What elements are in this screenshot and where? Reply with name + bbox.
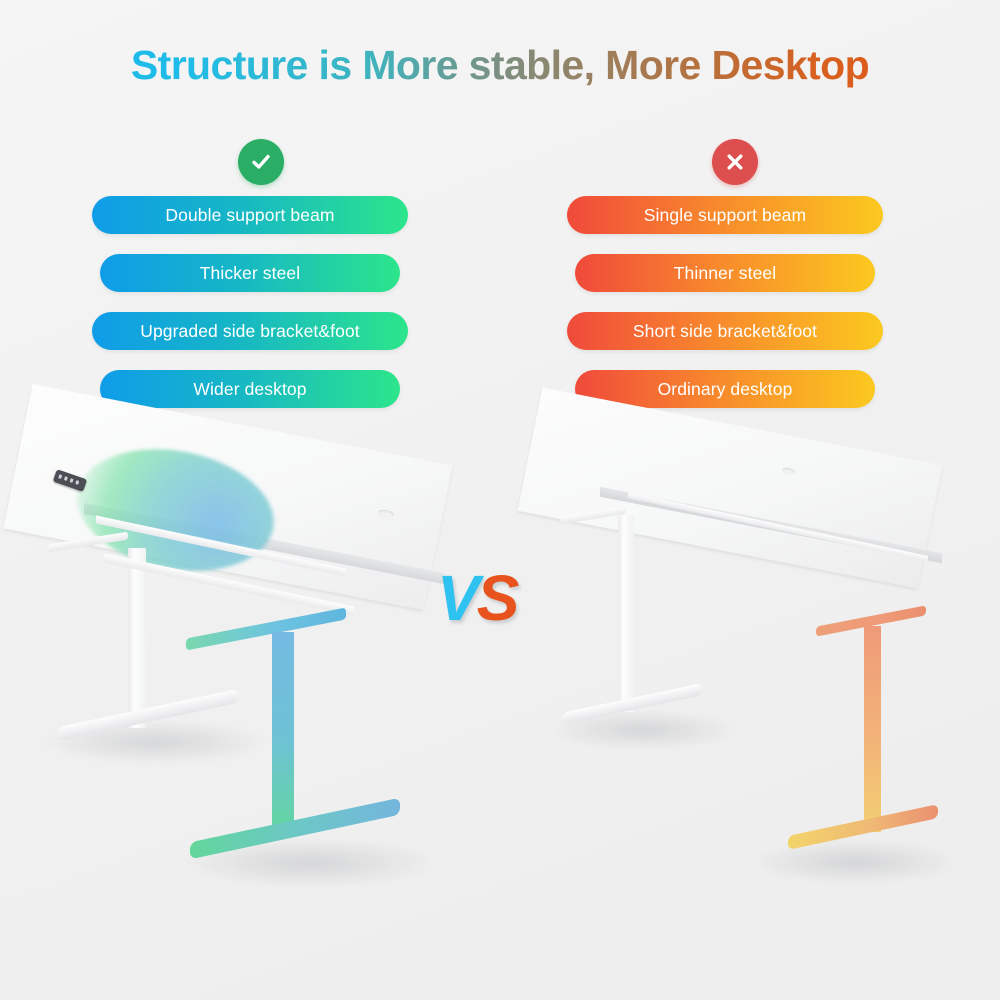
side-bracket-front-accent [186,607,346,650]
feature-pill-bad-3: Short side bracket&foot [567,312,883,350]
feature-pill-bad-2: Thinner steel [575,254,875,292]
desk-leg-rear [618,516,634,712]
desktop-surface [518,388,943,589]
feature-pill-good-2: Thicker steel [100,254,400,292]
cross-circle-icon [712,139,758,185]
desk-leg-front-accent [864,626,881,832]
vs-letter-s: S [477,562,517,634]
product-image-bad [520,420,990,940]
check-circle-icon [238,139,284,185]
feature-list-good: Double support beam Thicker steel Upgrad… [80,196,420,408]
vs-letter-v: V [437,562,477,634]
floor-shadow [750,840,960,884]
desk-leg-front-accent [272,632,294,832]
infographic-canvas: Structure is More stable, More Desktop D… [0,0,1000,1000]
feature-pill-good-4: Wider desktop [100,370,400,408]
desk-leg-rear [128,548,146,728]
feature-pill-good-3: Upgraded side bracket&foot [92,312,408,350]
page-title: Structure is More stable, More Desktop [0,42,1000,89]
vs-divider: VS [437,566,516,630]
feature-pill-bad-1: Single support beam [567,196,883,234]
product-image-good [0,420,470,940]
feature-list-bad: Single support beam Thinner steel Short … [555,196,895,408]
feature-pill-good-1: Double support beam [92,196,408,234]
